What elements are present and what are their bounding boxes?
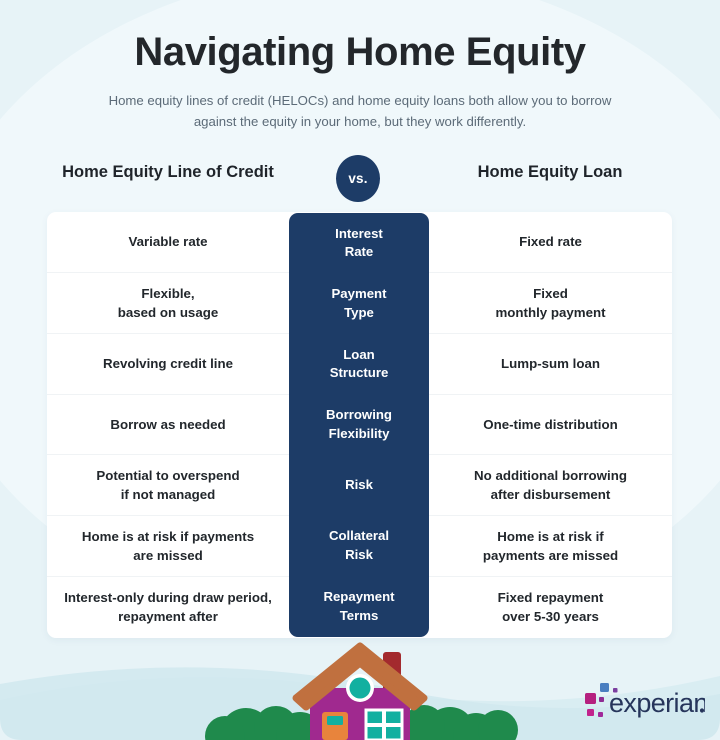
cell-heloc: Flexible, based on usage [47, 284, 289, 323]
page-title: Navigating Home Equity [0, 30, 720, 74]
infographic-header: Navigating Home Equity Home equity lines… [0, 0, 720, 133]
attribute-cell: Borrowing Flexibility [289, 395, 429, 456]
column-headings: Home Equity Line of Credit vs. Home Equi… [0, 155, 720, 199]
cell-heloc: Home is at risk if payments are missed [47, 527, 289, 566]
cell-loan-line2: monthly payment [443, 303, 658, 322]
column-heading-loan: Home Equity Loan [428, 163, 672, 182]
cell-loan: One-time distribution [429, 415, 672, 434]
cell-heloc-line1: Revolving credit line [61, 354, 275, 373]
experian-wordmark: experian [609, 688, 705, 718]
cell-loan: Home is at risk if payments are missed [429, 527, 672, 566]
cell-heloc: Borrow as needed [47, 415, 289, 434]
attribute-line1: Loan [330, 346, 389, 365]
attribute-line1: Risk [345, 476, 373, 495]
experian-logo: experian [583, 682, 705, 722]
page-subtitle: Home equity lines of credit (HELOCs) and… [100, 90, 620, 133]
cell-heloc-line2: if not managed [61, 485, 275, 504]
cell-heloc-line1: Flexible, [61, 284, 275, 303]
cell-heloc-line1: Variable rate [61, 232, 275, 251]
attribute-cell: Collateral Risk [289, 516, 429, 577]
cell-loan-line1: One-time distribution [443, 415, 658, 434]
cell-loan: Fixed rate [429, 232, 672, 251]
cell-loan-line2: payments are missed [443, 546, 658, 565]
attribute-line1: Collateral [329, 527, 389, 546]
attribute-line2: Type [332, 304, 387, 323]
experian-period [700, 708, 704, 712]
attribute-cell: Repayment Terms [289, 576, 429, 637]
attribute-line2: Risk [329, 546, 389, 565]
cell-loan-line1: Fixed rate [443, 232, 658, 251]
cell-heloc-line1: Borrow as needed [61, 415, 275, 434]
cell-heloc: Interest-only during draw period, repaym… [47, 588, 289, 627]
attribute-cell: Loan Structure [289, 334, 429, 395]
cell-loan-line1: Fixed [443, 284, 658, 303]
attribute-line2: Structure [330, 364, 389, 383]
attribute-column: Interest Rate Payment Type Loan Structur… [289, 213, 429, 637]
attribute-line1: Borrowing [326, 406, 392, 425]
cell-loan-line2: over 5-30 years [443, 607, 658, 626]
cell-heloc-line2: based on usage [61, 303, 275, 322]
column-heading-heloc: Home Equity Line of Credit [47, 163, 289, 182]
cell-loan: Lump-sum loan [429, 354, 672, 373]
cell-loan-line1: No additional borrowing [443, 466, 658, 485]
cell-heloc-line1: Potential to overspend [61, 466, 275, 485]
cell-heloc-line2: are missed [61, 546, 275, 565]
attribute-line1: Payment [332, 285, 387, 304]
attribute-cell: Interest Rate [289, 213, 429, 274]
cell-loan-line1: Home is at risk if [443, 527, 658, 546]
house-window-mullion-h [366, 723, 402, 727]
cell-loan: Fixed repayment over 5-30 years [429, 588, 672, 627]
vs-badge: vs. [336, 155, 380, 202]
attribute-line2: Rate [335, 243, 383, 262]
cell-heloc: Variable rate [47, 232, 289, 251]
attribute-cell: Risk [289, 455, 429, 516]
house-door-window [327, 716, 343, 725]
cell-loan: Fixed monthly payment [429, 284, 672, 323]
cell-heloc: Potential to overspend if not managed [47, 466, 289, 505]
cell-loan-line1: Fixed repayment [443, 588, 658, 607]
attribute-cell: Payment Type [289, 274, 429, 335]
cell-loan-line2: after disbursement [443, 485, 658, 504]
cell-heloc-line1: Interest-only during draw period, [61, 588, 275, 607]
attribute-line2: Terms [323, 607, 394, 626]
cell-loan-line1: Lump-sum loan [443, 354, 658, 373]
attribute-line1: Interest [335, 225, 383, 244]
cell-loan: No additional borrowing after disburseme… [429, 466, 672, 505]
cell-heloc: Revolving credit line [47, 354, 289, 373]
attribute-line2: Flexibility [326, 425, 392, 444]
cell-heloc-line2: repayment after [61, 607, 275, 626]
cell-heloc-line1: Home is at risk if payments [61, 527, 275, 546]
house-attic-window [350, 678, 371, 699]
attribute-line1: Repayment [323, 588, 394, 607]
